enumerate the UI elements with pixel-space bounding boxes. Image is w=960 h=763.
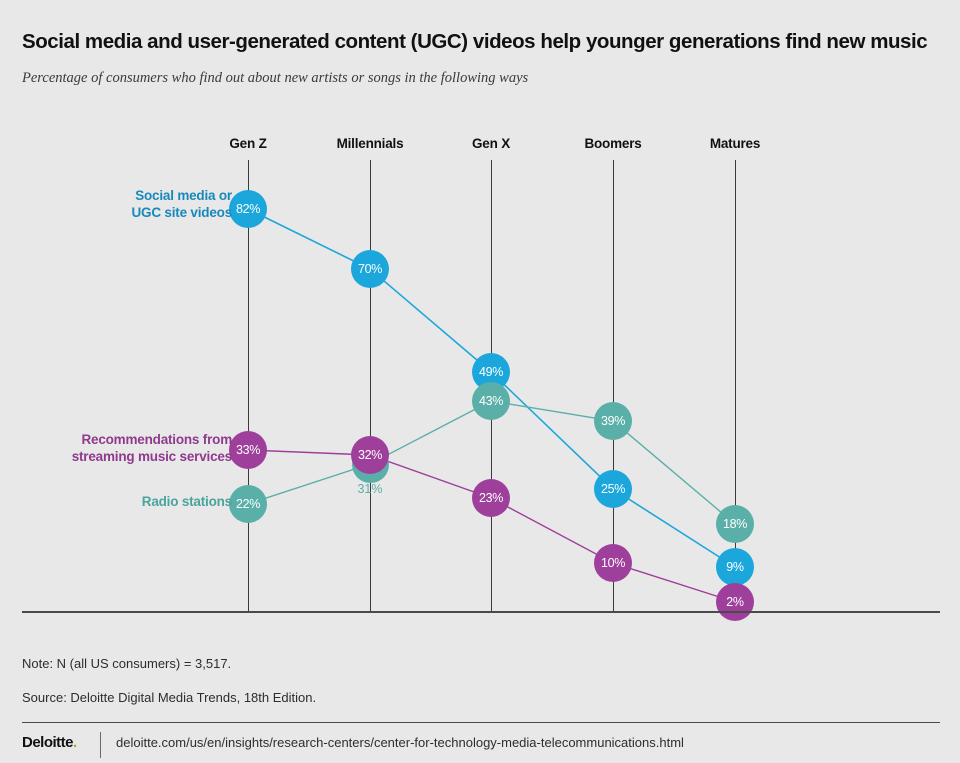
marker-social-matures[interactable]: 9% [716, 548, 754, 586]
value-label-radio-millennials: 31% [357, 482, 382, 496]
marker-radio-gen-z[interactable]: 22% [229, 485, 267, 523]
deloitte-logo: Deloitte. [22, 734, 77, 751]
chart-plot-area: Gen Z Millennials Gen X Boomers Matures … [0, 0, 960, 640]
chart-source: Source: Deloitte Digital Media Trends, 1… [22, 690, 316, 705]
chart-note: Note: N (all US consumers) = 3,517. [22, 656, 231, 671]
series-label-radio-text: Radio stations [142, 494, 232, 509]
series-label-social-media-line2: UGC site videos [131, 205, 232, 220]
series-lines [0, 0, 960, 640]
marker-social-gen-z[interactable]: 82% [229, 190, 267, 228]
deloitte-logo-dot: . [73, 734, 77, 751]
marker-streaming-gen-z[interactable]: 33% [229, 431, 267, 469]
marker-social-millennials[interactable]: 70% [351, 250, 389, 288]
marker-radio-boomers[interactable]: 39% [594, 402, 632, 440]
series-label-streaming: Recommendations from streaming music ser… [72, 432, 232, 466]
marker-radio-matures[interactable]: 18% [716, 505, 754, 543]
line-streaming-recommendations [248, 450, 735, 602]
series-label-social-media-line1: Social media or [135, 188, 232, 203]
footer-divider [22, 722, 940, 723]
series-label-radio: Radio stations [142, 494, 232, 511]
marker-streaming-gen-x[interactable]: 23% [472, 479, 510, 517]
chart-baseline [22, 611, 940, 613]
marker-streaming-boomers[interactable]: 10% [594, 544, 632, 582]
footer-url[interactable]: deloitte.com/us/en/insights/research-cen… [116, 735, 684, 750]
series-label-social-media: Social media or UGC site videos [131, 188, 232, 222]
marker-streaming-millennials[interactable]: 32% [351, 436, 389, 474]
chart-footer: Deloitte. deloitte.com/us/en/insights/re… [22, 722, 940, 762]
series-label-streaming-line1: Recommendations from [81, 432, 232, 447]
chart-figure: Social media and user-generated content … [0, 0, 960, 763]
marker-social-boomers[interactable]: 25% [594, 470, 632, 508]
marker-radio-gen-x[interactable]: 43% [472, 382, 510, 420]
deloitte-logo-text: Deloitte [22, 734, 73, 751]
series-label-streaming-line2: streaming music services [72, 449, 232, 464]
marker-streaming-matures[interactable]: 2% [716, 583, 754, 621]
footer-vertical-divider [100, 732, 101, 758]
